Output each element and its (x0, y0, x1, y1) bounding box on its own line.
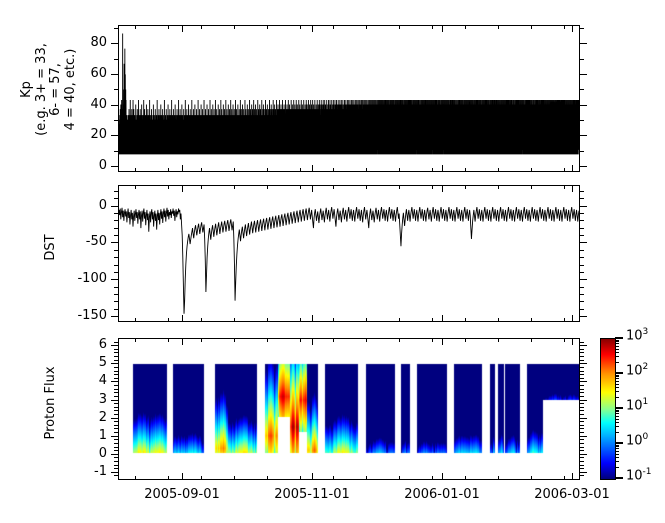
axis-tick (114, 425, 118, 426)
axis-tick (580, 454, 587, 455)
axis-tick (114, 428, 118, 429)
axis-tick (114, 287, 118, 288)
axis-tick (111, 418, 118, 419)
axis-tick (580, 287, 584, 288)
axis-tick (114, 385, 118, 386)
axis-tick (580, 389, 584, 390)
axis-tick (234, 338, 235, 342)
axis-tick (572, 473, 573, 480)
colorbar-mantissa: 10 (626, 433, 643, 448)
axis-tick (114, 475, 118, 476)
axis-tick (615, 349, 619, 350)
axis-tick (114, 294, 118, 295)
axis-tick (580, 360, 584, 361)
axis-tick (615, 454, 619, 455)
axis-tick (114, 389, 118, 390)
axis-tick (114, 265, 118, 266)
axis-tick (615, 451, 619, 452)
axis-tick (114, 250, 118, 251)
axis-tick (580, 135, 587, 136)
axis-tick (182, 473, 183, 480)
axis-tick (615, 413, 619, 414)
axis-tick (580, 363, 587, 364)
colorbar-mantissa: 10 (626, 363, 643, 378)
axis-tick (615, 477, 623, 479)
kp-axis-title-line-1: Kp (20, 11, 35, 168)
colorbar-tick-label: 10-1 (626, 468, 652, 482)
axis-tick (580, 450, 584, 451)
kp-axis-title: Kp(e.g. 3+ = 33,6- = 57,4 = 40, etc.) (20, 11, 78, 168)
axis-tick (114, 443, 118, 444)
axis-tick (580, 120, 584, 121)
axis-tick (111, 316, 118, 317)
axis-tick (465, 338, 466, 342)
axis-tick (111, 454, 118, 455)
axis-tick (580, 378, 584, 379)
axis-tick (572, 338, 573, 345)
colorbar-tick-label: 103 (626, 328, 648, 342)
axis-tick (333, 338, 334, 342)
axis-tick (114, 356, 118, 357)
colorbar-exponent: 0 (643, 432, 649, 442)
axis-tick (399, 338, 400, 342)
colorbar-tick-label: 101 (626, 398, 648, 412)
axis-tick (114, 352, 118, 353)
axis-tick (580, 345, 587, 346)
axis-tick (580, 432, 584, 433)
axis-tick (615, 387, 619, 388)
axis-tick (580, 410, 584, 411)
kp-trace (119, 26, 579, 171)
flux-axis-title: Proton Flux (44, 332, 59, 474)
colorbar (600, 338, 616, 480)
axis-tick (615, 356, 619, 357)
axis-tick (615, 442, 623, 444)
axis-tick (531, 476, 532, 480)
axis-tick (234, 476, 235, 480)
colorbar-mantissa: 10 (626, 468, 643, 483)
axis-tick (615, 445, 619, 446)
axis-tick (580, 396, 584, 397)
axis-tick (580, 428, 584, 429)
axis-tick (114, 457, 118, 458)
axis-tick (580, 74, 587, 75)
axis-tick (580, 349, 584, 350)
axis-tick (580, 367, 584, 368)
axis-tick (432, 476, 433, 480)
axis-tick (111, 43, 118, 44)
axis-tick (111, 206, 118, 207)
axis-tick (580, 472, 587, 473)
colorbar-tick-label: 100 (626, 433, 648, 447)
colorbar-mantissa: 10 (626, 398, 643, 413)
axis-tick (168, 338, 169, 342)
axis-tick (580, 43, 587, 44)
axis-tick (111, 345, 118, 346)
axis-tick (580, 385, 584, 386)
axis-tick (114, 198, 118, 199)
axis-tick (114, 228, 118, 229)
axis-tick (580, 465, 584, 466)
axis-tick (615, 416, 619, 417)
axis-tick (615, 375, 619, 376)
axis-tick (114, 342, 118, 343)
axis-tick (114, 447, 118, 448)
axis-tick (580, 294, 584, 295)
axis-tick (135, 476, 136, 480)
axis-tick (114, 257, 118, 258)
axis-tick (615, 346, 619, 347)
axis-tick (114, 371, 118, 372)
kp-axis-title-line-3: 6- = 57, (49, 11, 64, 168)
axis-tick (114, 89, 118, 90)
axis-tick (201, 338, 202, 342)
axis-tick (366, 338, 367, 342)
x-tick-label: 2006-01-01 (390, 488, 494, 501)
axis-tick (114, 465, 118, 466)
axis-tick (111, 105, 118, 106)
axis-tick (111, 166, 118, 167)
axis-tick (114, 432, 118, 433)
axis-tick (580, 279, 587, 280)
axis-tick (580, 439, 584, 440)
axis-tick (333, 476, 334, 480)
axis-tick (580, 403, 584, 404)
colorbar-exponent: 2 (643, 362, 649, 372)
axis-tick (580, 475, 584, 476)
axis-tick (580, 213, 584, 214)
axis-tick (114, 414, 118, 415)
axis-tick (114, 309, 118, 310)
axis-tick (580, 400, 587, 401)
axis-tick (580, 166, 587, 167)
axis-tick (580, 235, 584, 236)
axis-tick (111, 135, 118, 136)
axis-tick (615, 422, 619, 423)
axis-tick (615, 343, 619, 344)
axis-tick (615, 352, 619, 353)
axis-tick (615, 372, 623, 374)
axis-tick (267, 338, 268, 342)
axis-tick (580, 418, 587, 419)
axis-tick (615, 397, 619, 398)
axis-tick (432, 338, 433, 342)
axis-tick (114, 367, 118, 368)
axis-tick (580, 59, 584, 60)
x-tick-label: 2005-11-01 (260, 488, 364, 501)
axis-tick (580, 461, 584, 462)
axis-tick (111, 363, 118, 364)
axis-tick (111, 279, 118, 280)
axis-tick (580, 198, 584, 199)
axis-tick (135, 338, 136, 342)
axis-tick (580, 265, 584, 266)
axis-tick (615, 337, 623, 339)
axis-tick (580, 374, 584, 375)
axis-tick (366, 476, 367, 480)
axis-tick (300, 338, 301, 342)
axis-tick (498, 338, 499, 342)
x-tick-label: 2005-09-01 (130, 488, 234, 501)
axis-tick (580, 309, 584, 310)
axis-tick (114, 213, 118, 214)
axis-tick (114, 272, 118, 273)
dst-axis-title: DST (44, 179, 59, 316)
colorbar-exponent: 1 (643, 397, 649, 407)
axis-tick (114, 59, 118, 60)
axis-tick (114, 360, 118, 361)
figure-root: 020406080Kp(e.g. 3+ = 33,6- = 57,4 = 40,… (0, 0, 665, 523)
axis-tick (580, 316, 587, 317)
axis-tick (580, 242, 587, 243)
axis-tick (580, 443, 584, 444)
axis-tick (615, 384, 619, 385)
kp-axis-title-line-2: (e.g. 3+ = 33, (35, 11, 50, 168)
axis-tick (442, 473, 443, 480)
axis-tick (615, 407, 623, 409)
axis-tick (580, 468, 584, 469)
axis-tick (111, 381, 118, 382)
axis-tick (267, 476, 268, 480)
axis-tick (615, 410, 619, 411)
axis-tick (580, 356, 584, 357)
axis-tick (114, 461, 118, 462)
axis-tick (498, 476, 499, 480)
axis-tick (111, 472, 118, 473)
axis-tick (615, 467, 619, 468)
axis-tick (399, 476, 400, 480)
axis-tick (201, 476, 202, 480)
axis-tick (580, 257, 584, 258)
axis-tick (580, 447, 584, 448)
axis-tick (442, 338, 443, 345)
colorbar-mantissa: 10 (626, 328, 643, 343)
axis-tick (615, 362, 619, 363)
axis-tick (111, 436, 118, 437)
axis-tick (580, 220, 584, 221)
axis-tick (114, 374, 118, 375)
axis-tick (580, 272, 584, 273)
axis-tick (615, 432, 619, 433)
axis-tick (168, 476, 169, 480)
axis-tick (114, 120, 118, 121)
axis-tick (580, 407, 584, 408)
axis-tick (114, 421, 118, 422)
axis-tick (580, 28, 584, 29)
axis-tick (580, 191, 584, 192)
axis-tick (580, 151, 584, 152)
axis-tick (114, 191, 118, 192)
colorbar-exponent: 3 (643, 327, 649, 337)
axis-tick (580, 425, 584, 426)
axis-tick (580, 371, 584, 372)
axis-tick (114, 403, 118, 404)
axis-tick (580, 206, 587, 207)
axis-tick (564, 338, 565, 342)
axis-tick (615, 448, 619, 449)
axis-tick (615, 426, 619, 427)
x-tick-label: 2006-03-01 (520, 488, 624, 501)
axis-tick (300, 476, 301, 480)
axis-tick (114, 220, 118, 221)
axis-tick (615, 381, 619, 382)
colorbar-exponent: -1 (643, 467, 652, 477)
axis-tick (580, 228, 584, 229)
axis-tick (114, 410, 118, 411)
axis-tick (580, 342, 584, 343)
axis-tick (615, 457, 619, 458)
axis-tick (531, 338, 532, 342)
axis-tick (580, 381, 587, 382)
axis-tick (465, 476, 466, 480)
axis-tick (111, 242, 118, 243)
axis-tick (111, 74, 118, 75)
axis-tick (615, 378, 619, 379)
axis-tick (580, 457, 584, 458)
axis-tick (580, 301, 584, 302)
axis-tick (615, 419, 619, 420)
axis-tick (182, 338, 183, 345)
kp-axis-title-line-4: 4 = 40, etc.) (64, 11, 79, 168)
colorbar-tick-label: 102 (626, 363, 648, 377)
axis-tick (114, 396, 118, 397)
axis-tick (615, 391, 619, 392)
axis-tick (580, 414, 584, 415)
axis-tick (114, 28, 118, 29)
axis-tick (114, 151, 118, 152)
axis-tick (615, 461, 619, 462)
axis-tick (114, 235, 118, 236)
axis-tick (615, 340, 619, 341)
axis-tick (580, 89, 584, 90)
axis-tick (580, 250, 584, 251)
axis-tick (111, 400, 118, 401)
axis-tick (580, 436, 587, 437)
axis-tick (564, 476, 565, 480)
proton-flux-heatmap (119, 339, 579, 479)
axis-tick (114, 378, 118, 379)
axis-tick (312, 338, 313, 345)
axis-tick (580, 352, 584, 353)
axis-tick (580, 421, 584, 422)
axis-tick (114, 301, 118, 302)
axis-tick (114, 468, 118, 469)
axis-tick (580, 105, 587, 106)
axis-tick (312, 473, 313, 480)
axis-tick (114, 349, 118, 350)
axis-tick (114, 450, 118, 451)
dst-trace (119, 186, 579, 321)
axis-tick (114, 439, 118, 440)
axis-tick (114, 407, 118, 408)
axis-tick (114, 392, 118, 393)
axis-tick (580, 392, 584, 393)
